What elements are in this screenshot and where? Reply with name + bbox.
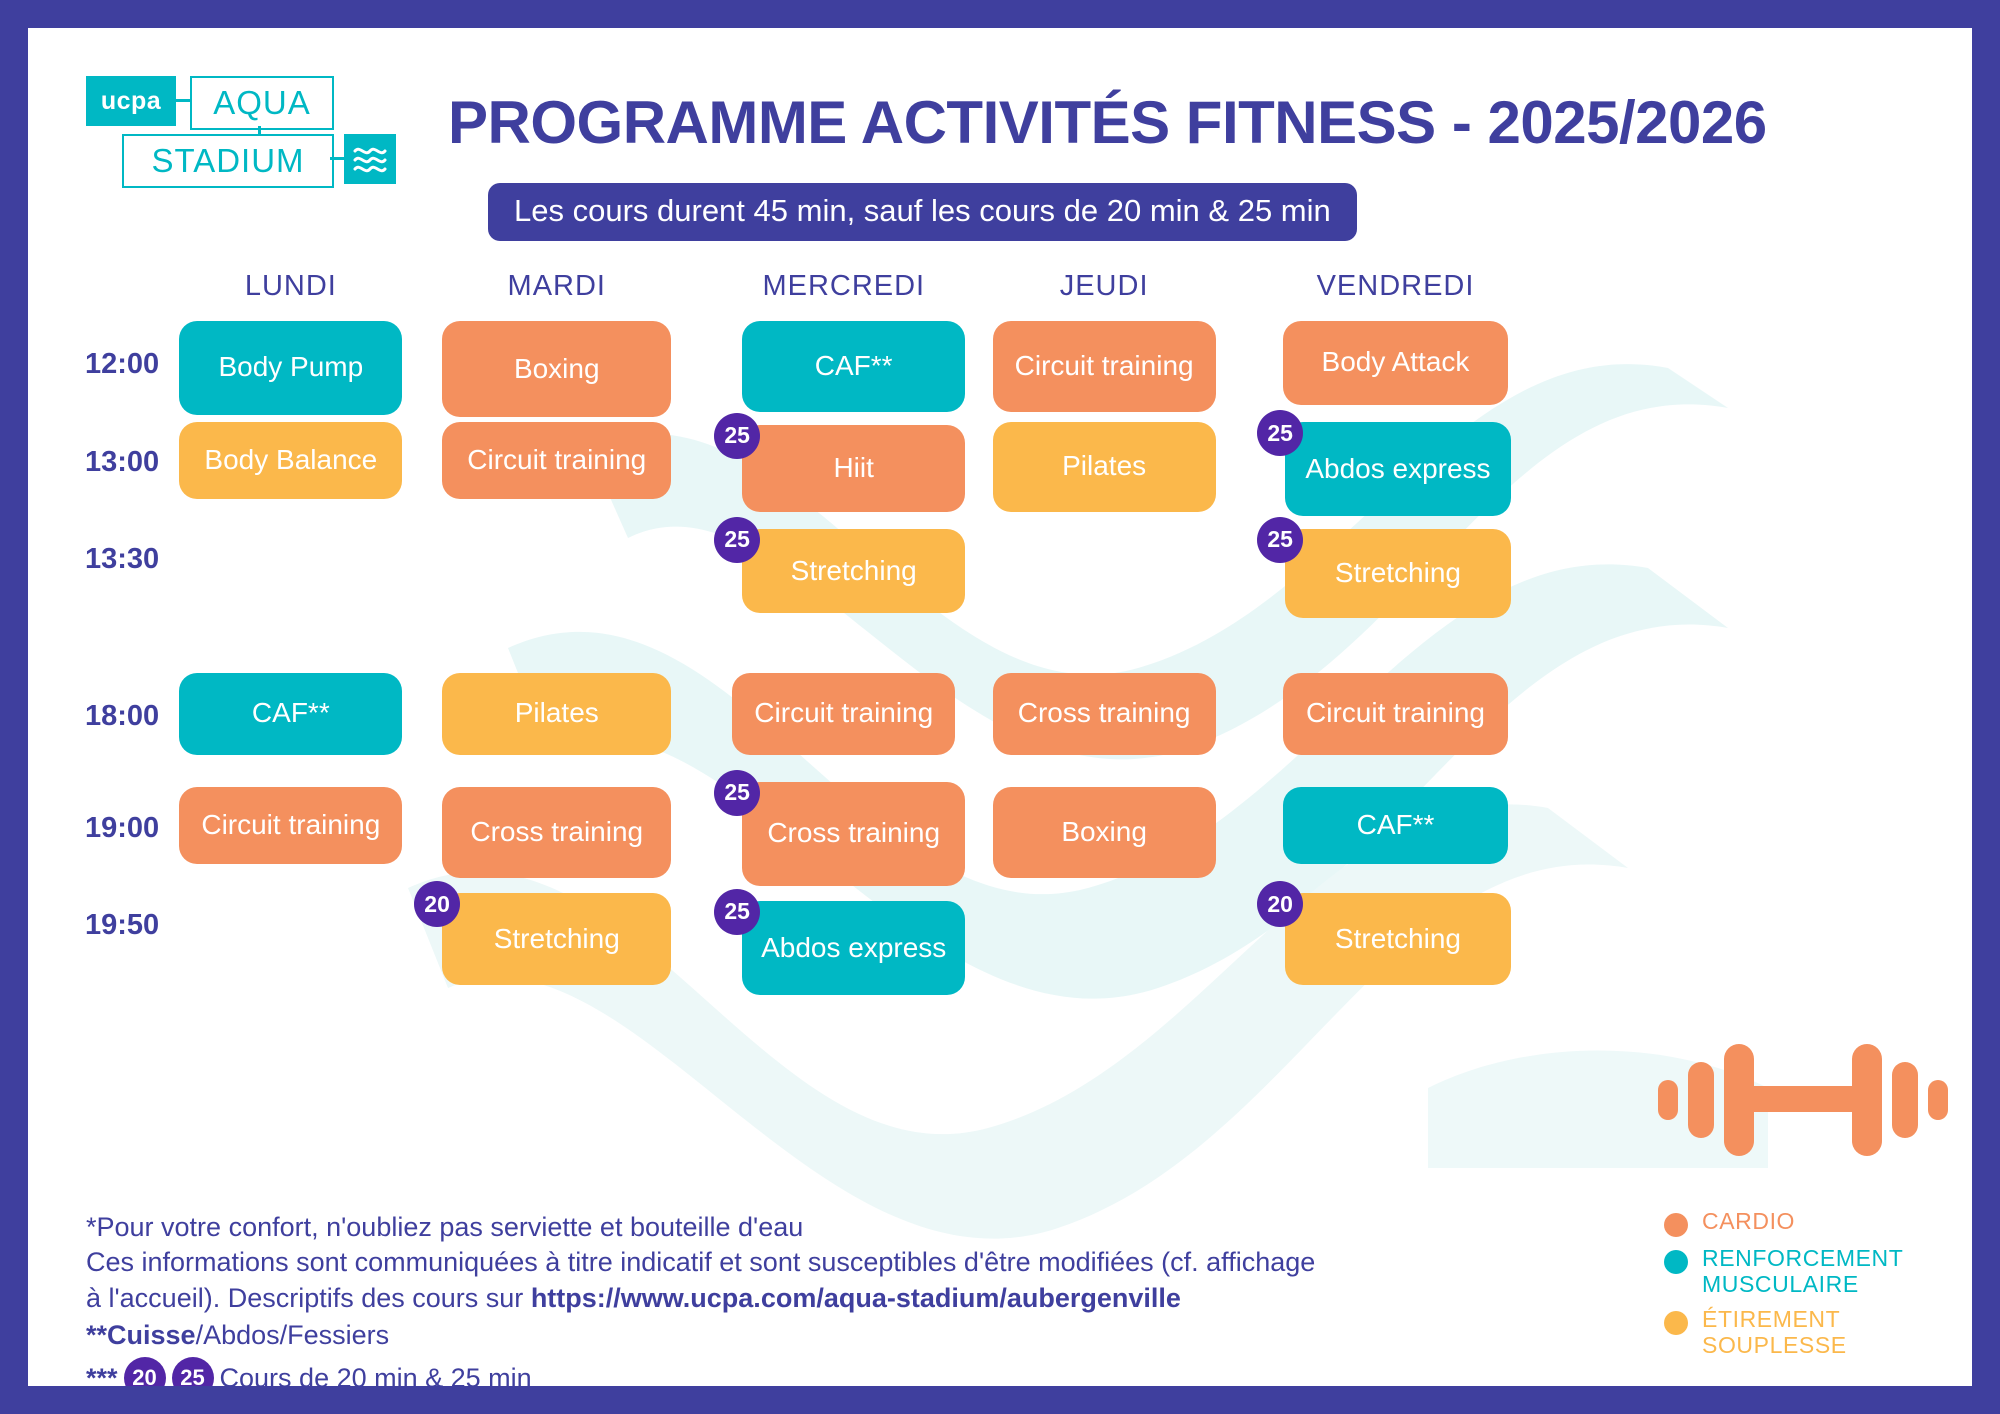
day-header-jeudi: JEUDI — [993, 270, 1216, 303]
duration-badge-25: 25 — [714, 413, 760, 459]
course-label: Hiit — [833, 453, 873, 484]
logo-ucpa-box: ucpa — [86, 76, 176, 126]
course-cell[interactable]: Circuit training — [442, 422, 671, 499]
badge-20-legend: 20 — [124, 1357, 166, 1386]
logo-aqua-box: AQUA — [190, 76, 334, 130]
course-label: Body Attack — [1322, 347, 1470, 378]
course-label: CAF** — [1357, 810, 1435, 841]
course-label: Cross training — [1018, 698, 1191, 729]
footer-caf-bold: **Cuisse — [86, 1320, 196, 1350]
day-header-lundi: LUNDI — [179, 270, 402, 303]
course-label: Stretching — [1335, 924, 1461, 955]
dumbbell-icon — [1658, 1038, 1948, 1158]
course-cell[interactable]: Boxing — [993, 787, 1216, 879]
subtitle-banner: Les cours durent 45 min, sauf les cours … — [488, 183, 1357, 241]
course-cell[interactable]: Body Balance — [179, 422, 402, 499]
legend-label-renforcement-line1: RENFORCEMENT — [1702, 1245, 1903, 1271]
poster-frame: ucpa AQUA STADIUM PROGRAMME ACTIVIT — [0, 0, 2000, 1414]
course-cell[interactable]: Stretching — [742, 529, 965, 613]
footer-line-5: *** 20 25 Cours de 20 min & 25 min — [86, 1357, 1646, 1386]
course-label: CAF** — [815, 351, 893, 382]
course-label: Body Balance — [204, 445, 377, 476]
legend-item-renforcement: RENFORCEMENT MUSCULAIRE — [1664, 1245, 1972, 1298]
course-cell[interactable]: Pilates — [993, 422, 1216, 511]
time-label-1900: 19:00 — [85, 812, 159, 845]
course-cell[interactable]: Boxing — [442, 321, 671, 418]
course-cell[interactable]: Hiit — [742, 425, 965, 512]
legend-label-cardio: CARDIO — [1702, 1208, 1795, 1234]
day-header-vendredi: VENDREDI — [1283, 270, 1509, 303]
course-label: Pilates — [515, 698, 599, 729]
course-label: Stretching — [791, 556, 917, 587]
course-cell[interactable]: Body Pump — [179, 321, 402, 415]
course-cell[interactable]: Circuit training — [732, 673, 955, 755]
logo-connector-1 — [176, 99, 190, 102]
course-label: Stretching — [1335, 558, 1461, 589]
logo-stadium-box: STADIUM — [122, 134, 334, 188]
duration-badge-25: 25 — [714, 889, 760, 935]
time-label-1300: 13:00 — [85, 446, 159, 479]
legend-item-etirement: ÉTIREMENT SOUPLESSE — [1664, 1306, 1972, 1359]
course-label: CAF** — [252, 698, 330, 729]
course-label: Abdos express — [761, 933, 946, 964]
course-cell[interactable]: CAF** — [742, 321, 965, 413]
course-label: Pilates — [1062, 451, 1146, 482]
course-label: Circuit training — [754, 698, 933, 729]
course-cell[interactable]: Cross training — [742, 782, 965, 886]
course-cell[interactable]: Abdos express — [742, 901, 965, 995]
duration-badge-25: 25 — [714, 517, 760, 563]
duration-badge-25: 25 — [714, 770, 760, 816]
footer-stars: *** — [86, 1361, 118, 1386]
legend-item-cardio: CARDIO — [1664, 1208, 1972, 1237]
footer-line-3-prefix: à l'accueil). Descriptifs des cours sur — [86, 1283, 531, 1313]
footer-website-link[interactable]: https://www.ucpa.com/aqua-stadium/auberg… — [531, 1283, 1181, 1313]
waves-icon — [344, 134, 396, 184]
course-cell[interactable]: Pilates — [442, 673, 671, 755]
footer-duration-text: Cours de 20 min & 25 min — [220, 1361, 532, 1386]
category-legend: CARDIO RENFORCEMENT MUSCULAIRE ÉTIREMENT… — [1664, 1208, 1972, 1367]
logo-stadium-text: STADIUM — [151, 142, 304, 180]
duration-badge-25: 25 — [1257, 517, 1303, 563]
legend-dot-cardio — [1664, 1213, 1688, 1237]
course-cell[interactable]: Stretching — [442, 893, 671, 985]
footer-line-4: **Cuisse/Abdos/Fessiers — [86, 1318, 1646, 1353]
course-label: Circuit training — [201, 810, 380, 841]
page-title: PROGRAMME ACTIVITÉS FITNESS - 2025/2026 — [448, 88, 1948, 157]
course-cell[interactable]: Stretching — [1285, 529, 1511, 618]
course-cell[interactable]: Body Attack — [1283, 321, 1509, 405]
course-cell[interactable]: Circuit training — [1283, 673, 1509, 755]
course-cell[interactable]: Cross training — [993, 673, 1216, 755]
course-label: Cross training — [470, 817, 643, 848]
course-cell[interactable]: Abdos express — [1285, 422, 1511, 516]
legend-label-renforcement: RENFORCEMENT MUSCULAIRE — [1702, 1245, 1903, 1298]
legend-label-etirement-line2: SOUPLESSE — [1702, 1332, 1847, 1358]
time-label-1330: 13:30 — [85, 543, 159, 576]
course-cell[interactable]: CAF** — [1283, 787, 1509, 864]
logo-ucpa-text: ucpa — [101, 87, 161, 116]
course-label: Body Pump — [218, 352, 363, 383]
legend-label-etirement: ÉTIREMENT SOUPLESSE — [1702, 1306, 1847, 1359]
footer-line-1: *Pour votre confort, n'oubliez pas servi… — [86, 1210, 1646, 1245]
time-label-1950: 19:50 — [85, 909, 159, 942]
course-cell[interactable]: Stretching — [1285, 893, 1511, 985]
course-label: Boxing — [1061, 817, 1147, 848]
legend-dot-renforcement — [1664, 1250, 1688, 1274]
time-label-1800: 18:00 — [85, 700, 159, 733]
footer-line-3: à l'accueil). Descriptifs des cours sur … — [86, 1281, 1646, 1316]
course-label: Circuit training — [467, 445, 646, 476]
time-label-1200: 12:00 — [85, 348, 159, 381]
footer-notes: *Pour votre confort, n'oubliez pas servi… — [86, 1210, 1646, 1386]
course-label: Abdos express — [1305, 454, 1490, 485]
course-cell[interactable]: Circuit training — [179, 787, 402, 864]
day-header-mardi: MARDI — [442, 270, 671, 303]
poster-sheet: ucpa AQUA STADIUM PROGRAMME ACTIVIT — [28, 28, 1972, 1386]
course-cell[interactable]: Circuit training — [993, 321, 1216, 413]
ucpa-aqua-stadium-logo: ucpa AQUA STADIUM — [62, 70, 382, 190]
course-label: Boxing — [514, 354, 600, 385]
course-label: Circuit training — [1306, 698, 1485, 729]
course-cell[interactable]: CAF** — [179, 673, 402, 755]
legend-label-renforcement-line2: MUSCULAIRE — [1702, 1271, 1859, 1297]
day-header-mercredi: MERCREDI — [732, 270, 955, 303]
badge-25-legend: 25 — [172, 1357, 214, 1386]
course-label: Stretching — [494, 924, 620, 955]
footer-caf-rest: /Abdos/Fessiers — [196, 1320, 390, 1350]
course-cell[interactable]: Cross training — [442, 787, 671, 879]
legend-dot-etirement — [1664, 1311, 1688, 1335]
footer-line-2: Ces informations sont communiquées à tit… — [86, 1245, 1646, 1280]
course-label: Circuit training — [1015, 351, 1194, 382]
logo-aqua-text: AQUA — [213, 84, 311, 122]
legend-label-etirement-line1: ÉTIREMENT — [1702, 1306, 1840, 1332]
course-label: Cross training — [767, 818, 940, 849]
